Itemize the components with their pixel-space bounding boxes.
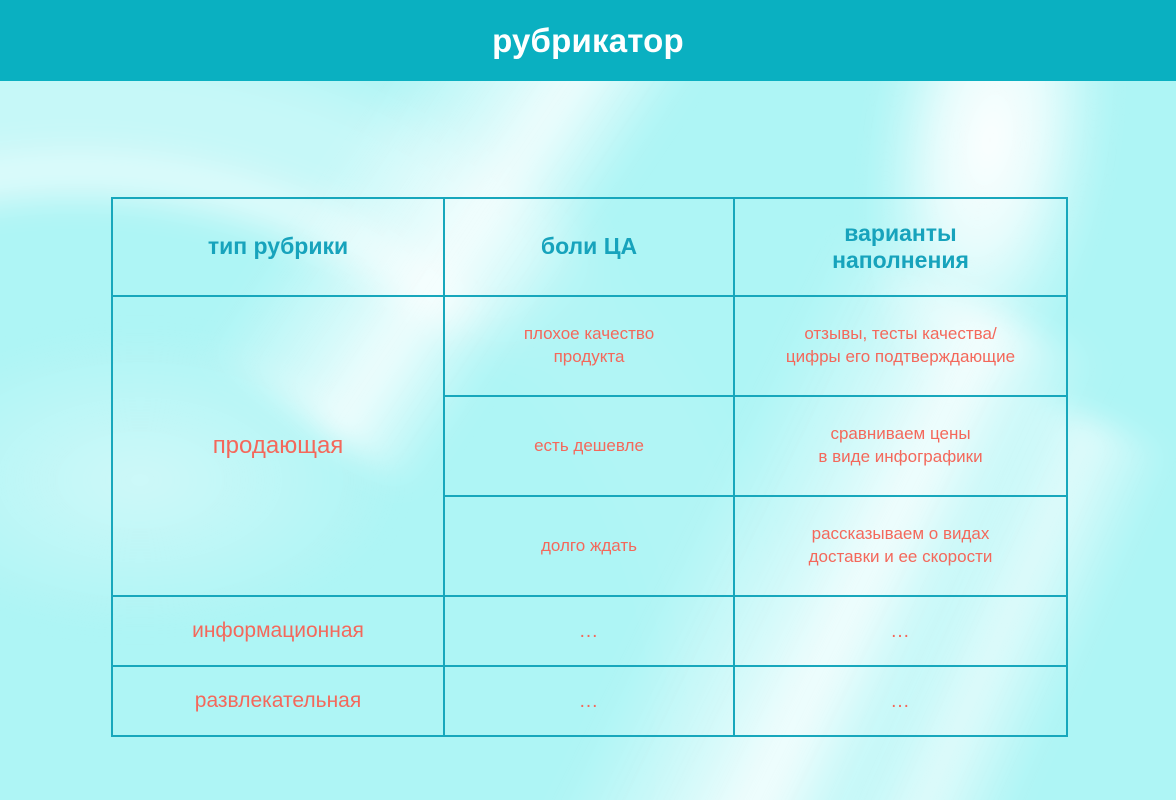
column-header-pain: боли ЦА	[444, 198, 734, 296]
cell-fill-r2-text: сравниваем цены в виде инфографики	[745, 423, 1056, 469]
cell-pain-r3: долго ждать	[444, 496, 734, 596]
table-row: развлекательная ... ...	[112, 666, 1067, 736]
cell-pain-r3-text: долго ждать	[455, 535, 723, 558]
cell-pain-r2: есть дешевле	[444, 396, 734, 496]
cell-pain-r1-line2: продукта	[554, 347, 625, 366]
row-group-type-label-informational: информационная	[123, 618, 433, 643]
page-title: рубрикатор	[492, 24, 684, 57]
column-header-fill-line1: варианты	[844, 220, 956, 246]
cell-pain-r4: ...	[444, 596, 734, 666]
column-header-fill-line2: наполнения	[832, 247, 969, 273]
cell-fill-r2-line2: в виде инфографики	[818, 447, 982, 466]
cell-pain-r1: плохое качество продукта	[444, 296, 734, 396]
table-row: информационная ... ...	[112, 596, 1067, 666]
cell-fill-r1: отзывы, тесты качества/ цифры его подтве…	[734, 296, 1067, 396]
cell-pain-r2-text: есть дешевле	[455, 435, 723, 458]
cell-fill-r1-text: отзывы, тесты качества/ цифры его подтве…	[745, 323, 1056, 369]
table-header-row: тип рубрики боли ЦА варианты наполнения	[112, 198, 1067, 296]
cell-fill-r2-line1: сравниваем цены	[830, 424, 970, 443]
cell-fill-r2: сравниваем цены в виде инфографики	[734, 396, 1067, 496]
cell-pain-r1-line1: плохое качество	[524, 324, 654, 343]
cell-pain-r5: ...	[444, 666, 734, 736]
cell-fill-r4: ...	[734, 596, 1067, 666]
cell-fill-r5: ...	[734, 666, 1067, 736]
cell-fill-r1-line1: отзывы, тесты качества/	[804, 324, 996, 343]
title-bar: рубрикатор	[0, 0, 1176, 81]
cell-fill-r3-line2: доставки и ее скорости	[809, 547, 993, 566]
cell-fill-r4-text: ...	[745, 622, 1056, 641]
cell-pain-r5-text: ...	[455, 692, 723, 711]
column-header-type: тип рубрики	[112, 198, 444, 296]
column-header-pain-label: боли ЦА	[455, 233, 723, 260]
cell-pain-r1-text: плохое качество продукта	[455, 323, 723, 369]
cell-fill-r3: рассказываем о видах доставки и ее скоро…	[734, 496, 1067, 596]
rubricator-table: тип рубрики боли ЦА варианты наполнения …	[111, 197, 1068, 737]
cell-fill-r3-line1: рассказываем о видах	[812, 524, 990, 543]
column-header-fill: варианты наполнения	[734, 198, 1067, 296]
row-group-type-cell-entertaining: развлекательная	[112, 666, 444, 736]
cell-pain-r4-text: ...	[455, 622, 723, 641]
column-header-type-label: тип рубрики	[123, 233, 433, 260]
slide-root: рубрикатор тип рубрики боли ЦА варианты …	[0, 0, 1176, 800]
cell-fill-r5-text: ...	[745, 692, 1056, 711]
row-group-type-cell-selling: продающая	[112, 296, 444, 596]
cell-fill-r1-line2: цифры его подтверждающие	[786, 347, 1015, 366]
table-row: продающая плохое качество продукта отзыв…	[112, 296, 1067, 396]
row-group-type-label-selling: продающая	[123, 432, 433, 461]
cell-fill-r3-text: рассказываем о видах доставки и ее скоро…	[745, 523, 1056, 569]
row-group-type-cell-informational: информационная	[112, 596, 444, 666]
row-group-type-label-entertaining: развлекательная	[123, 688, 433, 713]
column-header-fill-label: варианты наполнения	[745, 220, 1056, 274]
